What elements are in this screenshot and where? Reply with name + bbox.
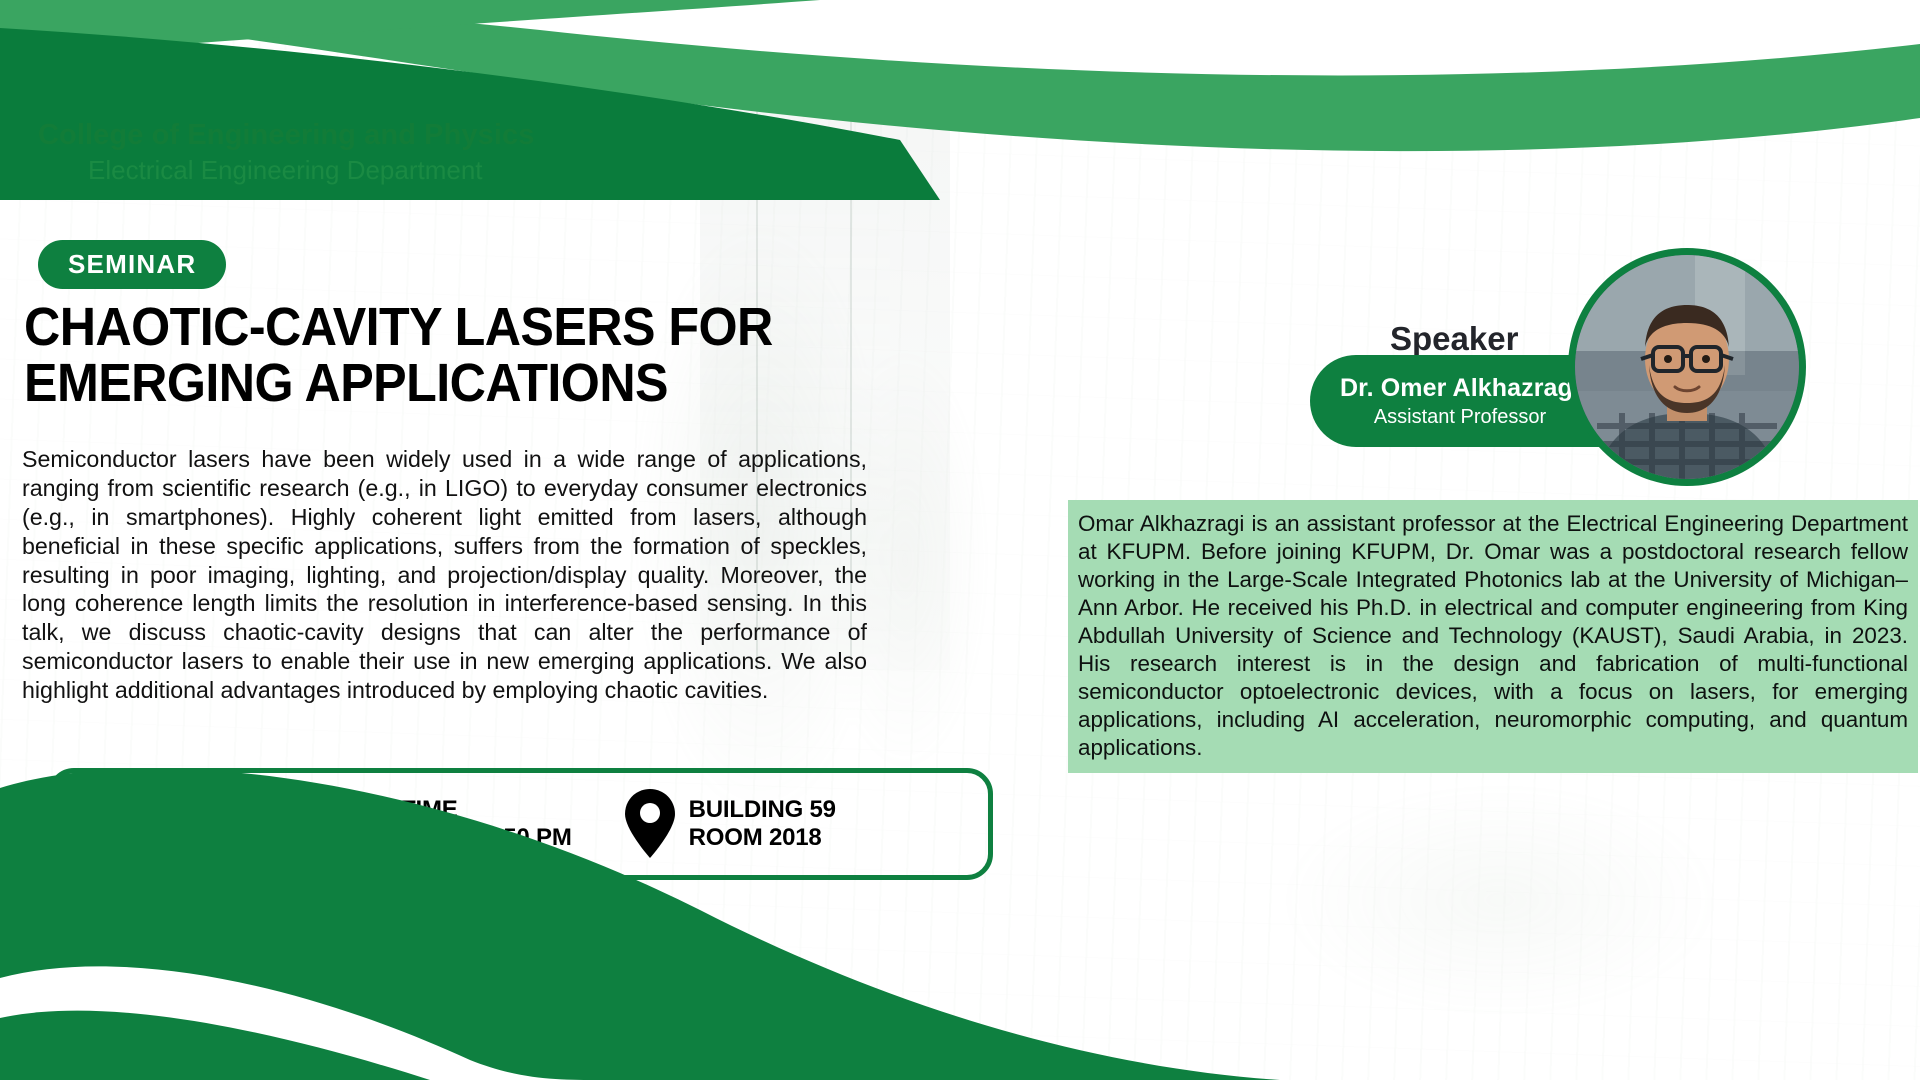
department-header: College of Engineering and Physics Elect… [38,120,535,184]
calendar-icon [75,796,129,852]
speaker-name: Dr. Omer Alkhazragi [1340,374,1580,403]
seminar-badge: SEMINAR [38,240,226,289]
speaker-label: Speaker [1390,320,1518,358]
map-pin-icon [624,788,676,860]
event-date-text: WEDNESDAY 1 OCT, 2025 [142,796,294,852]
event-item-location: BUILDING 59 ROOM 2018 [624,788,836,860]
event-item-date: WEDNESDAY 1 OCT, 2025 [75,796,294,852]
event-time-text: TIME 02:00-02:50 PM [401,796,572,852]
event-date: 1 OCT, 2025 [142,824,294,852]
event-location-text: BUILDING 59 ROOM 2018 [689,796,836,852]
speaker-bio-box: Omar Alkhazragi is an assistant professo… [1068,500,1918,773]
event-time-label: TIME [401,796,572,824]
seminar-poster: College of Engineering and Physics Elect… [0,0,1920,1080]
event-room: ROOM 2018 [689,824,836,852]
speaker-role: Assistant Professor [1374,406,1546,429]
top-wave-light-left [0,0,820,58]
page-title: CHAOTIC-CAVITY LASERS FOR EMERGING APPLI… [24,300,973,411]
bottom-wave-second [0,1011,430,1080]
speaker-name-pill: Dr. Omer Alkhazragi Assistant Professor [1310,355,1610,447]
college-name: College of Engineering and Physics [38,120,535,152]
event-time-value: 02:00-02:50 PM [401,824,572,852]
department-name: Electrical Engineering Department [88,156,535,185]
event-building: BUILDING 59 [689,796,836,824]
speaker-avatar [1575,255,1799,479]
top-wave-white-gap [0,0,1920,75]
event-details-bar: WEDNESDAY 1 OCT, 2025 TIME 02:00-02:50 P… [48,768,993,880]
event-day: WEDNESDAY [142,796,294,824]
speaker-photo-ring [1568,248,1806,486]
alarm-clock-icon [332,795,388,853]
speaker-portrait [1575,255,1799,479]
abstract-text: Semiconductor lasers have been widely us… [22,445,867,705]
event-item-time: TIME 02:00-02:50 PM [332,795,572,853]
bottom-wave-white-gap [0,966,600,1080]
